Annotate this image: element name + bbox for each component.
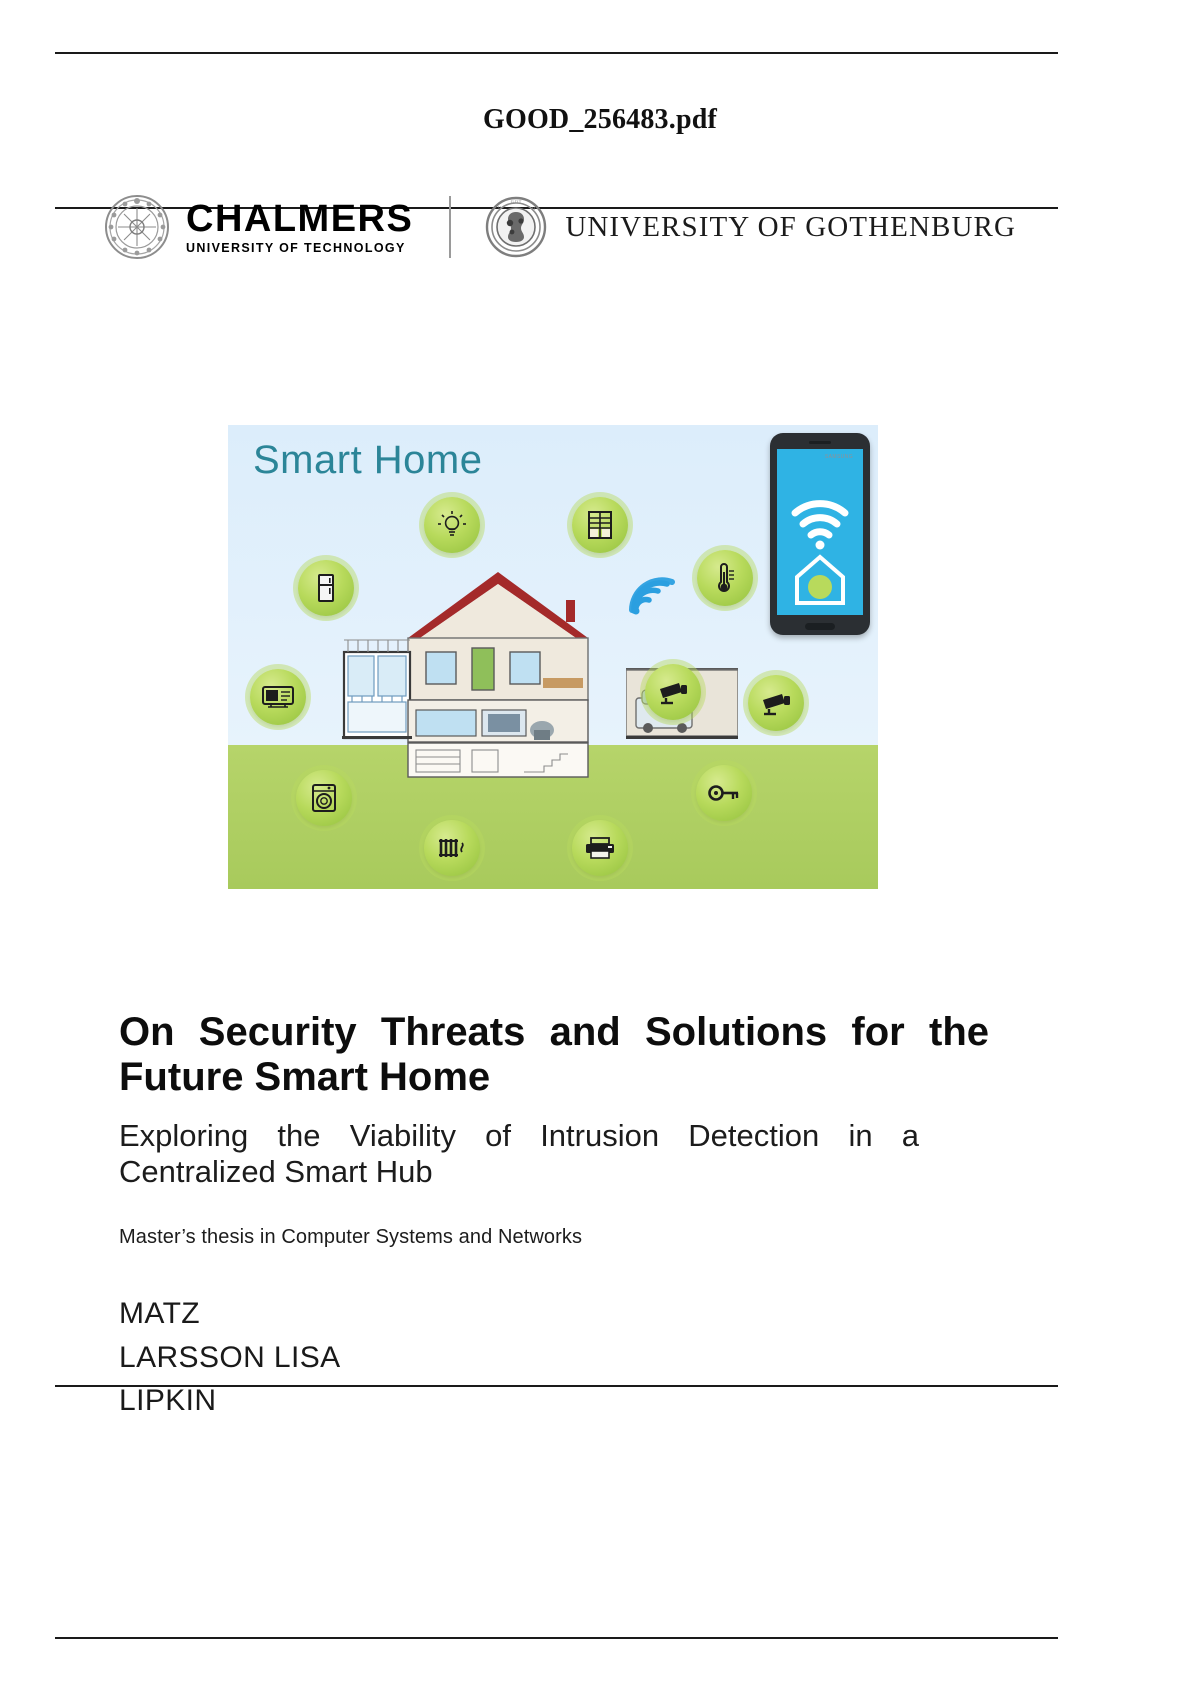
thesis-subtitle-line-1: Exploring the Viability of Intrusion Det… [119, 1118, 919, 1153]
security-camera-icon-left [645, 664, 701, 720]
printer-icon [572, 820, 628, 876]
thesis-subtitle: Exploring the Viability of Intrusion Det… [119, 1118, 919, 1190]
key-icon [696, 765, 752, 821]
radiator-icon [424, 820, 480, 876]
chalmers-wordmark-text: CHALMERS [186, 200, 413, 238]
document-filename: GOOD_256483.pdf [0, 104, 1200, 136]
house-illustration [338, 560, 658, 780]
chalmers-wordmark-block: CHALMERS UNIVERSITY OF TECHNOLOGY [186, 200, 413, 255]
cover-illustration: Smart Home [228, 425, 878, 889]
refrigerator-icon [298, 560, 354, 616]
chalmers-seal-icon [104, 194, 170, 260]
phone-screen: SAMSUNG [777, 449, 863, 615]
author-name: MATZ [119, 1292, 341, 1336]
wifi-icon [626, 570, 678, 616]
washing-machine-icon [296, 770, 352, 826]
gothenburg-wordmark-text: UNIVERSITY OF GOTHENBURG [565, 211, 1016, 244]
lightbulb-icon [424, 497, 480, 553]
author-name: LIPKIN [119, 1379, 341, 1423]
thesis-subtitle-line-2: Centralized Smart Hub [119, 1154, 433, 1189]
author-list: MATZ LARSSON LISA LIPKIN [119, 1292, 341, 1423]
thesis-title-line-1: On Security Threats and Solutions for [119, 1010, 905, 1054]
thesis-degree-line: Master’s thesis in Computer Systems and … [119, 1226, 989, 1249]
page-title: On Security Threats and Solutions for th… [119, 1010, 989, 1100]
page-bottom-rule [55, 1637, 1058, 1639]
svg-text:U: U [498, 205, 501, 210]
security-camera-icon-right [748, 675, 804, 731]
phone-brand-label: SAMSUNG [825, 454, 853, 460]
svg-text:H: H [532, 206, 535, 211]
chalmers-subtitle-text: UNIVERSITY OF TECHNOLOGY [186, 242, 413, 255]
thermometer-icon [697, 550, 753, 606]
phone-home-button [805, 623, 835, 630]
logo-divider [449, 196, 451, 258]
thesis-title-block: On Security Threats and Solutions for th… [119, 1010, 989, 1249]
author-name: LARSSON LISA [119, 1336, 341, 1380]
university-logo-band: CHALMERS UNIVERSITY OF TECHNOLOGY UG O T… [104, 186, 1024, 268]
svg-text:G O T: G O T [511, 199, 522, 204]
smartphone-illustration: SAMSUNG [770, 433, 870, 635]
gothenburg-seal-icon: UG O T H [485, 196, 547, 258]
television-icon [250, 669, 306, 725]
blinds-icon [572, 497, 628, 553]
page-top-rule [55, 52, 1058, 54]
illustration-title: Smart Home [253, 438, 483, 483]
phone-speaker [809, 441, 831, 444]
